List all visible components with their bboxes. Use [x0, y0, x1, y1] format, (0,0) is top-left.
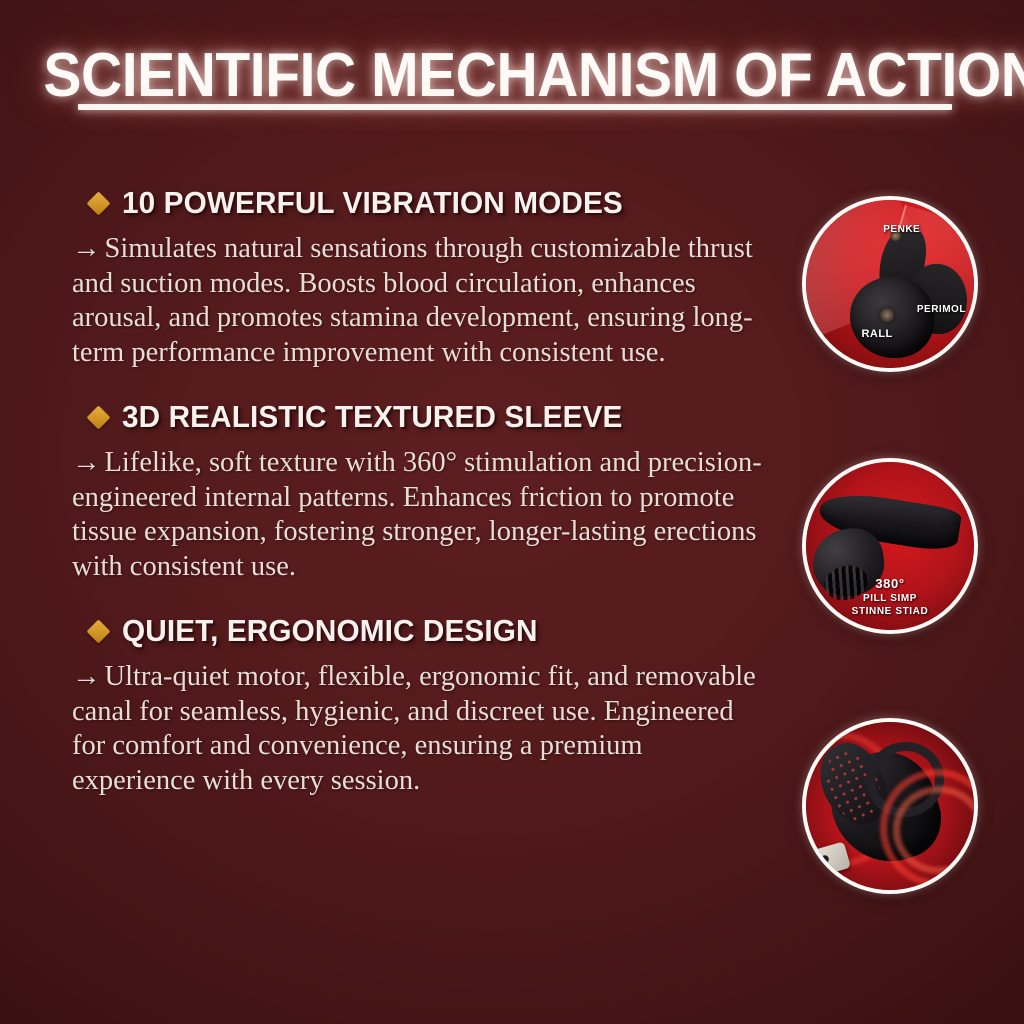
- title-underline-rule: [78, 104, 952, 110]
- feature-title: 3D REALISTIC TEXTURED SLEEVE: [122, 400, 622, 434]
- feature-title: 10 POWERFUL VIBRATION MODES: [122, 186, 623, 220]
- product-photo-artwork: 380° PILL SIMP STINNE STIAD: [806, 462, 974, 630]
- photo-label-degrees: 380°: [806, 576, 974, 591]
- arrow-right-icon: →: [72, 661, 105, 692]
- feature-item-textured-sleeve: 3D REALISTIC TEXTURED SLEEVE →Lifelike, …: [72, 400, 772, 584]
- product-photo-column: PENKE PERIMOL RALL 380° PILL SIMP STINNE…: [802, 196, 978, 896]
- feature-heading-row: QUIET, ERGONOMIC DESIGN: [90, 614, 772, 648]
- photo-label-line2: STINNE STIAD: [806, 606, 974, 617]
- feature-item-vibration-modes: 10 POWERFUL VIBRATION MODES →Simulates n…: [72, 186, 772, 370]
- product-photo-vibration-modes: PENKE PERIMOL RALL: [802, 196, 978, 372]
- feature-description-text: Lifelike, soft texture with 360° stimula…: [72, 447, 762, 582]
- product-photo-artwork: [806, 722, 974, 890]
- feature-description: →Ultra-quiet motor, flexible, ergonomic …: [72, 660, 762, 798]
- diamond-icon: [86, 405, 110, 429]
- product-photo-textured-sleeve: 380° PILL SIMP STINNE STIAD: [802, 458, 978, 634]
- feature-description: →Simulates natural sensations through cu…: [72, 232, 762, 370]
- infographic-poster: SCIENTIFIC MECHANISM OF ACTION 10 POWERF…: [0, 0, 1024, 1024]
- photo-label-right: PERIMOL: [917, 304, 966, 315]
- photo-shape-wave: [893, 786, 974, 874]
- feature-title: QUIET, ERGONOMIC DESIGN: [122, 614, 538, 648]
- photo-label-top: PENKE: [883, 224, 920, 235]
- diamond-icon: [86, 191, 110, 215]
- feature-heading-row: 3D REALISTIC TEXTURED SLEEVE: [90, 400, 772, 434]
- photo-shape-screw: [880, 308, 894, 322]
- feature-description-text: Simulates natural sensations through cus…: [72, 233, 753, 368]
- diamond-icon: [86, 619, 110, 643]
- feature-heading-row: 10 POWERFUL VIBRATION MODES: [90, 186, 772, 220]
- arrow-right-icon: →: [72, 233, 105, 264]
- feature-list: 10 POWERFUL VIBRATION MODES →Simulates n…: [72, 186, 772, 798]
- photo-label-bottom: RALL: [861, 328, 892, 340]
- feature-description-text: Ultra-quiet motor, flexible, ergonomic f…: [72, 661, 756, 796]
- photo-label-line1: PILL SIMP: [806, 593, 974, 604]
- arrow-right-icon: →: [72, 447, 105, 478]
- page-title: SCIENTIFIC MECHANISM OF ACTION: [43, 44, 1024, 108]
- poster-title-block: SCIENTIFIC MECHANISM OF ACTION: [0, 44, 1024, 108]
- product-photo-artwork: PENKE PERIMOL RALL: [806, 200, 974, 368]
- product-photo-ergonomic-design: [802, 718, 978, 894]
- feature-item-ergonomic-design: QUIET, ERGONOMIC DESIGN →Ultra-quiet mot…: [72, 614, 772, 798]
- feature-description: →Lifelike, soft texture with 360° stimul…: [72, 446, 762, 584]
